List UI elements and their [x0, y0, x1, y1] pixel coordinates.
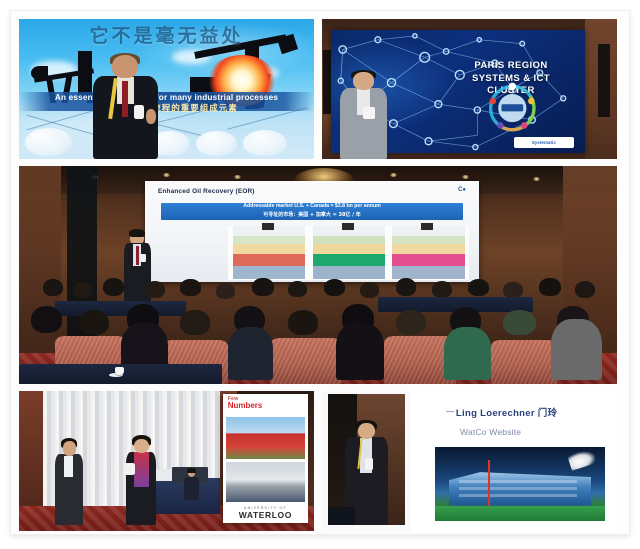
watco-building-image: [435, 447, 604, 521]
banquet-chair: [491, 340, 557, 384]
building-shape: [449, 465, 591, 506]
eor-slide-title: Enhanced Oil Recovery (EOR): [158, 188, 255, 195]
storage-tank: [243, 130, 287, 157]
banquet-chair: [270, 338, 342, 384]
laptop-table: [328, 507, 356, 525]
watco-logo-icon: [567, 448, 598, 472]
waterloo-banner-footer: UNIVERSITY OF WATERLOO: [223, 506, 309, 520]
speaker-photo: [328, 394, 405, 526]
photo-panel-oil-presentation[interactable]: 它不是毫无益处 An essential commodity for many …: [19, 19, 314, 159]
paris-title-line1: PARIS REGION: [450, 60, 572, 73]
watco-slide-title: Ling Loerechner 门玲: [456, 405, 557, 419]
tea-cup: [115, 367, 124, 375]
eor-banner-text-en: Addressable market U.S. + Canada = $3.8 …: [161, 203, 462, 211]
audience-head: [551, 319, 602, 380]
eor-slide-logo: C●: [458, 187, 466, 193]
presenter-male: [54, 441, 84, 525]
photo-panel-paris-presentation[interactable]: PARIS REGION SYSTEMS & ICT CLUSTER: [322, 19, 617, 159]
storage-tank: [196, 131, 237, 156]
seated-person: [184, 469, 199, 500]
eor-slide-banner: Addressable market U.S. + Canada = $3.8 …: [161, 203, 462, 220]
microphone-icon: [365, 458, 373, 470]
microphone-icon: [124, 463, 135, 475]
speaker-figure: [340, 72, 387, 159]
waterloo-footer-big: WATERLOO: [223, 510, 309, 520]
microphone-icon: [363, 107, 374, 119]
waterloo-students-photo: [226, 462, 305, 502]
red-mast: [488, 460, 491, 506]
watco-slide-subtitle: WatCo Website: [460, 427, 521, 437]
systematic-badge: Systematic: [514, 137, 575, 148]
collage-inner: 它不是毫无益处 An essential commodity for many …: [10, 10, 630, 535]
photo-panel-watco-presentation[interactable]: Ling Loerechner 门玲 WatCo Website: [322, 391, 617, 531]
microphone-icon: [134, 105, 145, 118]
presenter-female: [125, 439, 157, 526]
waterloo-banner-heading: Few Numbers: [228, 396, 305, 411]
waterloo-heading-small: Few: [228, 396, 305, 402]
waterloo-campus-photo: [226, 417, 305, 460]
oil-slide-headline-cn: 它不是毫无益处: [19, 21, 314, 48]
photo-panel-conference-audience[interactable]: Enhanced Oil Recovery (EOR) C● Addressab…: [19, 166, 617, 384]
watco-slide: Ling Loerechner 门玲 WatCo Website: [411, 391, 618, 531]
photo-panel-waterloo-presentation[interactable]: Few Numbers UNIVERSITY OF WATERLOO: [19, 391, 314, 531]
waterloo-heading: Numbers: [228, 401, 263, 410]
systematic-badge-label: Systematic: [532, 140, 556, 145]
storage-tank: [25, 128, 72, 156]
lawn: [435, 506, 604, 521]
audience-head: [228, 327, 273, 379]
waterloo-rollup-banner: Few Numbers UNIVERSITY OF WATERLOO: [223, 394, 309, 523]
audience-head: [444, 327, 492, 379]
collage-frame: 它不是毫无益处 An essential commodity for many …: [0, 0, 640, 549]
cluster-ring-diagram: [473, 81, 552, 135]
bullet-dash-icon: [446, 411, 454, 412]
audience-head: [336, 323, 384, 380]
oil-slide-caption-cn: 它是许多工业流程的重要组成元素: [19, 102, 314, 114]
eor-banner-text-cn: 可寻址的市场：美国 + 加拿大 = 38亿 / 年: [161, 211, 462, 218]
oil-slide-caption-en: An essential commodity for many industri…: [19, 93, 314, 102]
speaker-tower: [598, 44, 610, 117]
speaker-figure: [90, 55, 161, 159]
